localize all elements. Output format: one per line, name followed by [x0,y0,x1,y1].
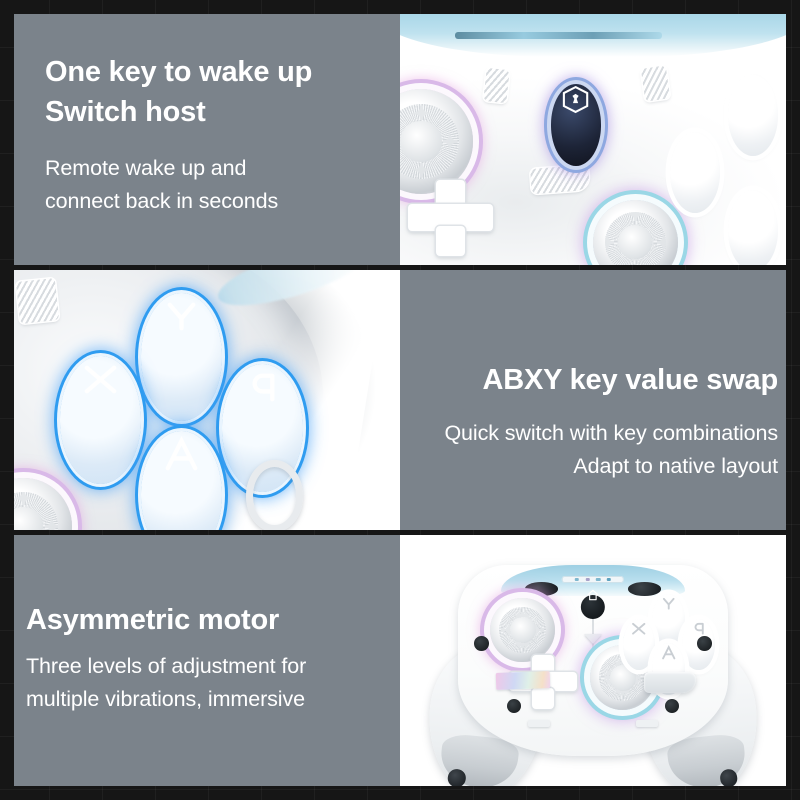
trim-indicator-bar [562,576,624,583]
shoulder-button-left [525,582,557,595]
panel-controller-topface [400,14,786,265]
shoulder-button-right [628,582,660,595]
vent-pad [16,278,59,323]
face-button-x [60,356,141,484]
panel-controller-abxy-macro [14,270,400,530]
feature-motor-subtitle: Three levels of adjustment for multiple … [26,650,306,715]
home-button[interactable] [581,595,605,619]
rear-paddle-detail [644,672,695,693]
left-side-dot [474,636,489,651]
controller-topface-image [400,14,786,265]
vent-pad-left [483,68,509,103]
controller-full-image [400,535,786,786]
right-lower-dot [665,699,680,714]
feature-abxy-title: ABXY key value swap [483,360,779,400]
dpad [408,180,493,255]
feature-motor-title: Asymmetric motor [26,600,279,640]
panel-controller-full [400,535,786,786]
left-lower-dot [507,699,522,714]
face-button-a [728,190,778,265]
shell-ring-detail [246,460,304,530]
product-feature-grid: One key to wake up Switch host Remote wa… [0,0,800,800]
panel-feature-wake: One key to wake up Switch host Remote wa… [14,14,400,265]
face-button-x [670,132,720,213]
right-side-dot [697,636,712,651]
face-button-y[interactable] [652,594,684,646]
feature-abxy-subtitle: Quick switch with key combinations Adapt… [444,417,778,482]
left-analog-stick[interactable] [490,598,555,663]
face-button-x[interactable] [623,619,655,671]
feature-wake-subtitle: Remote wake up and connect back in secon… [45,152,278,217]
controller-body [458,565,728,756]
vent-pad-center [530,165,590,194]
center-chevron [584,634,602,644]
right-analog-stick [593,200,678,265]
lion-hex-logo-icon [551,84,601,165]
bottom-tab-left [528,720,550,728]
controller-top-trim [400,14,786,57]
face-button-y [728,74,778,155]
brand-sticker [495,671,550,690]
vent-pad-right [641,65,670,101]
bottom-tab-right [636,720,658,728]
controller-abxy-macro-image [14,270,400,530]
left-analog-stick [400,89,473,193]
feature-wake-title: One key to wake up Switch host [45,52,312,132]
